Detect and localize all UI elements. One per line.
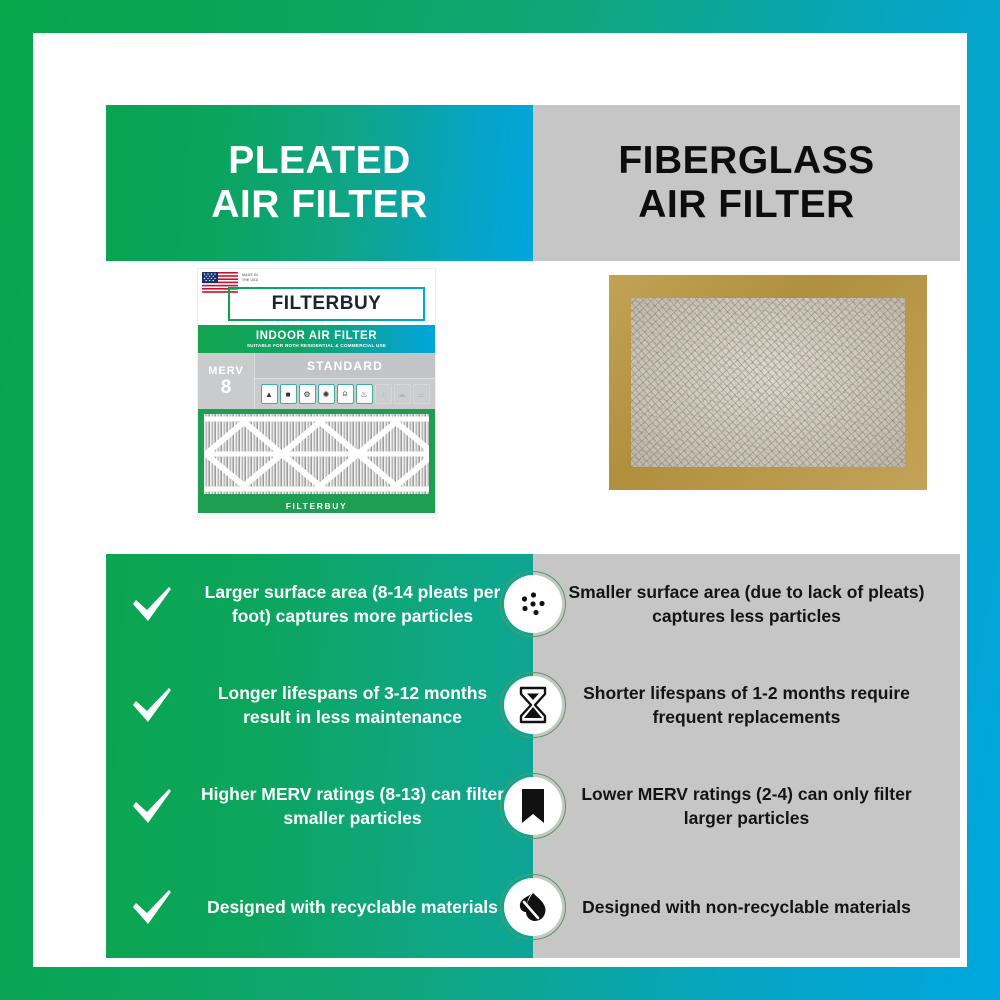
row-right-text: Designed with non-recyclable materials	[533, 896, 960, 919]
dust-icon: ▲	[261, 384, 278, 404]
header-pleated: PLEATED AIR FILTER	[106, 105, 533, 261]
particles-icon	[500, 571, 566, 637]
header-fiberglass-title: FIBERGLASS AIR FILTER	[618, 139, 874, 226]
capability-icon-row: ▲ ■ ⚙ ✺ ⍝ ♨ ♪ ☁ ⚌	[255, 379, 435, 409]
white-card-background: PLEATED AIR FILTER FIBERGLASS AIR FILTER	[33, 33, 967, 967]
check-icon	[106, 787, 198, 827]
row-left-text: Larger surface area (8-14 pleats per foo…	[198, 581, 533, 628]
comparison-rows: Larger surface area (8-14 pleats per foo…	[106, 554, 960, 958]
row-right-text: Shorter lifespans of 1-2 months require …	[533, 682, 960, 729]
support-wire-mesh	[204, 414, 429, 494]
fiberglass-media-texture	[631, 298, 905, 467]
check-icon	[106, 585, 198, 625]
pleat-texture	[204, 414, 429, 494]
pet-dander-icon: ♨	[356, 384, 373, 404]
filterbuy-brand-text: FILTERBUY	[272, 293, 382, 315]
odor-icon-disabled: ☁	[394, 384, 411, 404]
filter-footer-brand: FILTERBUY	[198, 501, 435, 511]
banner-subtitle: SUITABLE FOR BOTH RESIDENTIAL & COMMERCI…	[247, 343, 386, 348]
row-right-text: Lower MERV ratings (2-4) can only filter…	[533, 783, 960, 830]
row-left-text: Longer lifespans of 3-12 months result i…	[198, 682, 533, 729]
pleated-filter-image: MADE IN THE USA FILTERBUY INDOOR AIR FIL…	[198, 269, 435, 517]
banner-title: INDOOR AIR FILTER	[256, 330, 377, 342]
pleated-filter-header: MADE IN THE USA FILTERBUY	[198, 269, 435, 325]
bacteria-icon: ⍝	[337, 384, 354, 404]
merv-label: MERV	[208, 365, 244, 377]
comparison-panel: PLEATED AIR FILTER FIBERGLASS AIR FILTER	[106, 105, 960, 958]
row-left-text: Designed with recyclable materials	[198, 896, 533, 919]
filter-spec-strip: MERV 8 STANDARD ▲ ■ ⚙ ✺ ⍝ ♨	[198, 353, 435, 409]
row-left-text: Higher MERV ratings (8-13) can filter sm…	[198, 783, 533, 830]
pollen-icon: ⚙	[299, 384, 316, 404]
hourglass-icon	[500, 672, 566, 738]
bookmark-icon	[500, 773, 566, 839]
product-image-band: MADE IN THE USA FILTERBUY INDOOR AIR FIL…	[106, 261, 960, 554]
row-right-text: Smaller surface area (due to lack of ple…	[533, 581, 960, 628]
merv-rating-block: MERV 8	[198, 353, 255, 409]
filterbuy-logo-box: FILTERBUY	[228, 287, 425, 321]
pleated-media-area: FILTERBUY	[198, 409, 435, 513]
fiberglass-filter-image	[609, 275, 927, 490]
check-icon	[106, 888, 198, 928]
header-pleated-title: PLEATED AIR FILTER	[211, 139, 428, 226]
made-in-usa-label: MADE IN THE USA	[242, 273, 258, 282]
check-icon	[106, 686, 198, 726]
grade-label: STANDARD	[255, 353, 435, 379]
virus-icon-disabled: ⚌	[413, 384, 430, 404]
header-row: PLEATED AIR FILTER FIBERGLASS AIR FILTER	[106, 105, 960, 261]
leaf-icon	[500, 874, 566, 940]
spec-right-column: STANDARD ▲ ■ ⚙ ✺ ⍝ ♨ ♪ ☁ ⚌	[255, 353, 435, 409]
header-fiberglass: FIBERGLASS AIR FILTER	[533, 105, 960, 261]
comparison-infographic: PLEATED AIR FILTER FIBERGLASS AIR FILTER	[0, 0, 1000, 1000]
merv-value: 8	[221, 378, 232, 397]
lint-icon: ■	[280, 384, 297, 404]
smoke-icon-disabled: ♪	[375, 384, 392, 404]
indoor-air-filter-banner: INDOOR AIR FILTER SUITABLE FOR BOTH RESI…	[198, 325, 435, 353]
mold-icon: ✺	[318, 384, 335, 404]
